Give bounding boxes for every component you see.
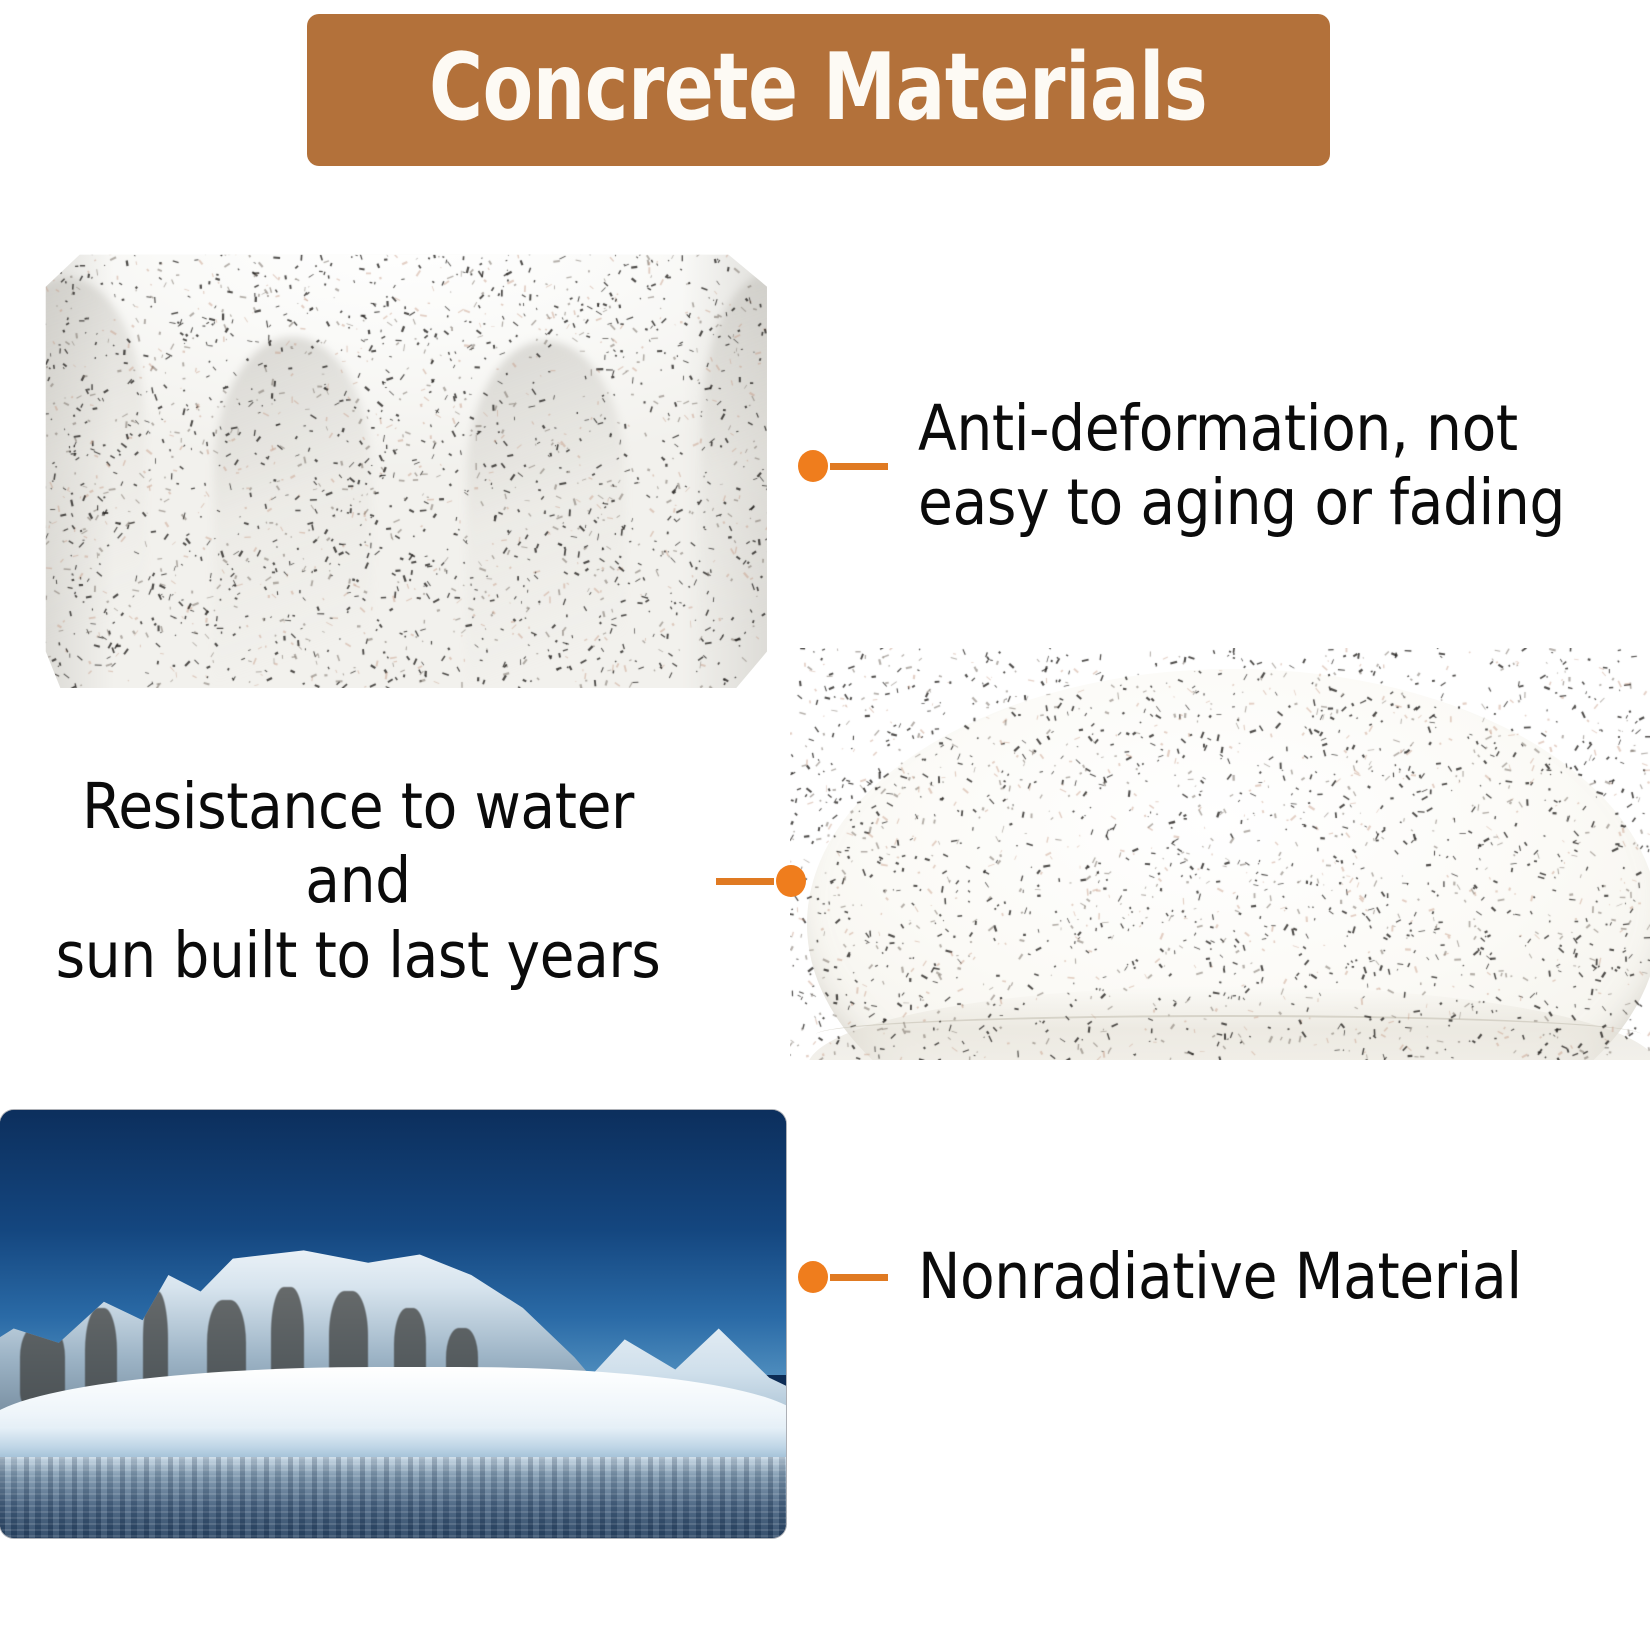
callout-water-sun-resistance: Resistance to water and sun built to las… (28, 770, 806, 993)
glacier-water-reflection (0, 1457, 786, 1538)
slab-speckle-texture (790, 648, 1650, 1060)
callout-connector-line (716, 878, 774, 885)
callout-connector-line (830, 1274, 888, 1281)
callout-label: Anti-deformation, not easy to aging or f… (918, 392, 1565, 541)
callout-connector-line (830, 463, 888, 470)
callout-dot-icon (798, 450, 828, 482)
concrete-ridges-surface (22, 232, 790, 688)
concrete-speckle-texture (22, 232, 790, 688)
callout-dot-icon (798, 1261, 828, 1293)
callout-anti-deformation: Anti-deformation, not easy to aging or f… (798, 392, 1588, 541)
title-banner: Concrete Materials (307, 14, 1330, 166)
infographic-page: Concrete Materials (0, 0, 1650, 1650)
callout-dot-icon (776, 865, 806, 897)
page-title: Concrete Materials (429, 41, 1207, 134)
callout-nonradiative-material: Nonradiative Material (798, 1240, 1598, 1314)
concrete-ridges-photo (22, 232, 790, 688)
callout-label: Resistance to water and sun built to las… (28, 770, 688, 993)
glacier-photo (0, 1110, 786, 1538)
callout-label: Nonradiative Material (918, 1240, 1522, 1314)
concrete-round-slab-photo (790, 648, 1650, 1060)
